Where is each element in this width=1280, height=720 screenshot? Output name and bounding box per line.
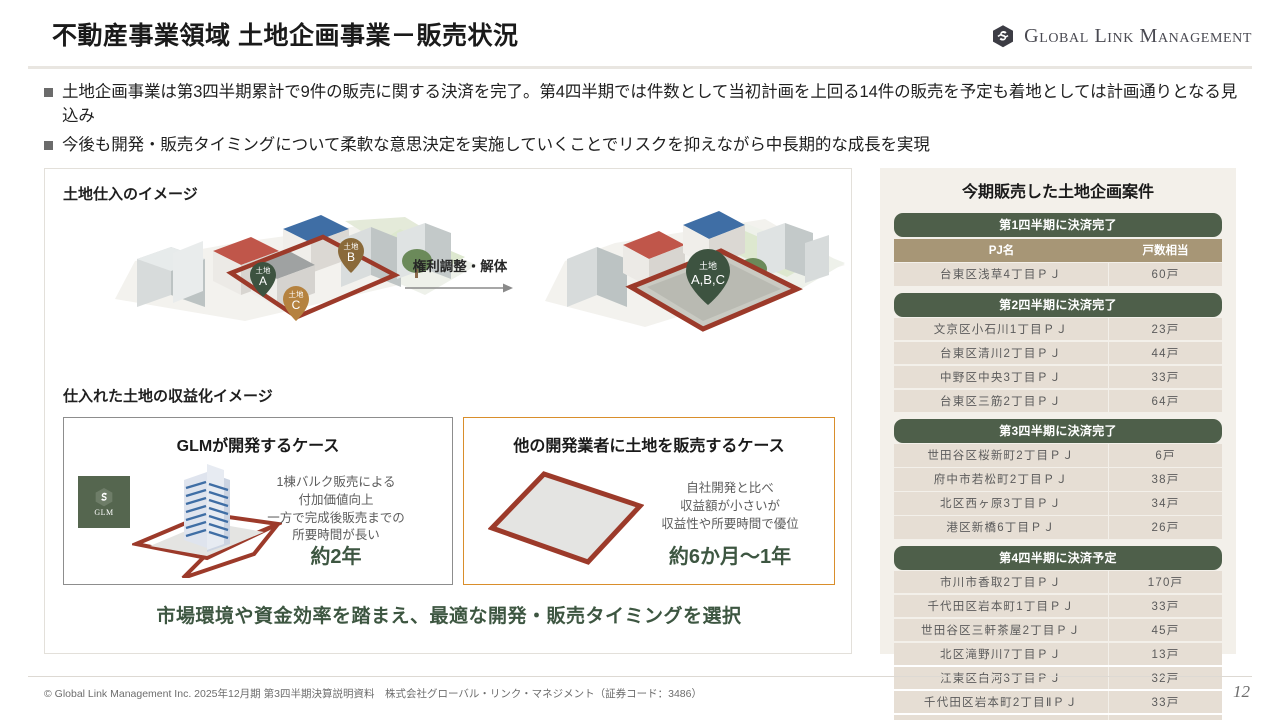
panel-title: 今期販売した土地企画案件: [880, 178, 1236, 202]
column-header-cell: 戸数相当: [1109, 239, 1222, 262]
project-name-cell: 北区西ヶ原3丁目ＰＪ: [894, 492, 1109, 515]
projects-table: 第1四半期に決済完了PJ名戸数相当台東区浅草4丁目ＰＪ60戸第2四半期に決済完了…: [894, 206, 1222, 720]
page-title: 不動産事業領域 土地企画事業－販売状況: [52, 16, 518, 52]
unit-count-cell: 23戸: [1109, 318, 1222, 341]
project-name-cell: 世田谷区桜新町2丁目ＰＪ: [894, 444, 1109, 467]
unit-count-cell: 18戸: [1109, 715, 1222, 720]
table-row: 北区西ヶ原3丁目ＰＪ34戸: [894, 492, 1222, 515]
table-row: 世田谷区東玉川2丁目ＰＪ18戸: [894, 715, 1222, 720]
case-description-line: 自社開発と比べ: [632, 480, 828, 498]
case-description: 1棟バルク販売による付加価値向上一方で完成後販売までの所要時間が長い: [224, 474, 448, 545]
table-row: 千代田区岩本町2丁目ⅡＰＪ33戸: [894, 691, 1222, 714]
project-name-cell: 文京区小石川1丁目ＰＪ: [894, 318, 1109, 341]
svg-text:土地: 土地: [699, 260, 717, 271]
unit-count-cell: 6戸: [1109, 444, 1222, 467]
unit-count-cell: 38戸: [1109, 468, 1222, 491]
unit-count-cell: 33戸: [1109, 691, 1222, 714]
glm-badge-label: GLM: [94, 508, 113, 517]
case-term: 約6か月〜1年: [624, 540, 836, 569]
slide: 不動産事業領域 土地企画事業－販売状況 Global Link Manageme…: [0, 0, 1280, 720]
svg-text:A,B,C: A,B,C: [691, 272, 725, 287]
bullet-list: 土地企画事業は第3四半期累計で9件の販売に関する決済を完了。第4四半期では件数と…: [44, 80, 1244, 161]
case-description: 自社開発と比べ収益額が小さいが収益性や所要時間で優位: [632, 480, 828, 533]
section-label-land-acquisition: 土地仕入のイメージ: [63, 183, 198, 204]
project-name-cell: 台東区浅草4丁目ＰＪ: [894, 263, 1109, 286]
table-row: 文京区小石川1丁目ＰＪ23戸: [894, 318, 1222, 341]
table-row: 台東区清川2丁目ＰＪ44戸: [894, 342, 1222, 365]
project-name-cell: 台東区清川2丁目ＰＪ: [894, 342, 1109, 365]
transform-arrow-label: 権利調整・解体: [400, 255, 520, 275]
unit-count-cell: 26戸: [1109, 516, 1222, 539]
table-column-header: PJ名戸数相当: [894, 239, 1222, 262]
unit-count-cell: 64戸: [1109, 390, 1222, 413]
table-row: 市川市香取2丁目ＰＪ170戸: [894, 571, 1222, 594]
table-row: 千代田区岩本町1丁目ＰＪ33戸: [894, 595, 1222, 618]
case-description-line: 収益性や所要時間で優位: [632, 516, 828, 534]
logo-wordmark: Global Link Management: [1024, 25, 1252, 48]
table-row: 港区新橋6丁目ＰＪ26戸: [894, 516, 1222, 539]
project-name-cell: 江東区白河3丁目ＰＪ: [894, 667, 1109, 690]
table-row: 府中市若松町2丁目ＰＪ38戸: [894, 468, 1222, 491]
case-description-line: 収益額が小さいが: [632, 498, 828, 516]
project-name-cell: 北区滝野川7丁目ＰＪ: [894, 643, 1109, 666]
case-card-glm-development: GLMが開発するケース GLM: [63, 417, 453, 585]
unit-count-cell: 60戸: [1109, 263, 1222, 286]
unit-count-cell: 32戸: [1109, 667, 1222, 690]
table-row: 北区滝野川7丁目ＰＪ13戸: [894, 643, 1222, 666]
project-name-cell: 市川市香取2丁目ＰＪ: [894, 571, 1109, 594]
bullet-square-icon: [44, 141, 53, 150]
empty-land-illustration: [488, 466, 644, 570]
project-name-cell: 港区新橋6丁目ＰＪ: [894, 516, 1109, 539]
table-row: 世田谷区桜新町2丁目ＰＪ6戸: [894, 444, 1222, 467]
footer-divider: [28, 676, 1252, 677]
page-number: 12: [1233, 682, 1250, 702]
glm-badge-icon: GLM: [78, 476, 130, 528]
quarter-section-header: 第2四半期に決済完了: [894, 293, 1222, 317]
table-row: 台東区浅草4丁目ＰＪ60戸: [894, 263, 1222, 286]
bullet-item: 土地企画事業は第3四半期累計で9件の販売に関する決済を完了。第4四半期では件数と…: [44, 80, 1244, 129]
sold-projects-panel: 今期販売した土地企画案件 第1四半期に決済完了PJ名戸数相当台東区浅草4丁目ＰＪ…: [880, 168, 1236, 654]
case-description-line: 1棟バルク販売による: [224, 474, 448, 492]
bullet-text: 今後も開発・販売タイミングについて柔軟な意思決定を実施していくことでリスクを抑え…: [62, 133, 930, 157]
table-rows: 台東区浅草4丁目ＰＪ60戸: [894, 263, 1222, 286]
left-content-panel: 土地仕入のイメージ: [44, 168, 852, 654]
project-name-cell: 台東区三筋2丁目ＰＪ: [894, 390, 1109, 413]
unit-count-cell: 34戸: [1109, 492, 1222, 515]
table-rows: 世田谷区桜新町2丁目ＰＪ6戸府中市若松町2丁目ＰＪ38戸北区西ヶ原3丁目ＰＪ34…: [894, 444, 1222, 539]
slide-header: 不動産事業領域 土地企画事業－販売状況 Global Link Manageme…: [0, 0, 1280, 68]
right-arrow-icon: [405, 281, 513, 293]
table-row: 中野区中央3丁目ＰＪ33戸: [894, 366, 1222, 389]
unit-count-cell: 45戸: [1109, 619, 1222, 642]
svg-text:C: C: [292, 298, 301, 312]
case-description-line: 付加価値向上: [224, 492, 448, 510]
bullet-square-icon: [44, 88, 53, 97]
case-card-land-sale: 他の開発業者に土地を販売するケース 自社開発と比べ収益額が小さいが収益性や所要時…: [463, 417, 835, 585]
case-title: 他の開発業者に土地を販売するケース: [464, 432, 834, 456]
glm-hexagon-s-monogram-icon: [991, 24, 1015, 48]
column-header-cell: PJ名: [894, 239, 1109, 262]
quarter-section-header: 第3四半期に決済完了: [894, 419, 1222, 443]
quarter-section-header: 第1四半期に決済完了: [894, 213, 1222, 237]
company-logo: Global Link Management: [991, 24, 1252, 48]
table-row: 世田谷区三軒茶屋2丁目ＰＪ45戸: [894, 619, 1222, 642]
unit-count-cell: 13戸: [1109, 643, 1222, 666]
project-name-cell: 中野区中央3丁目ＰＪ: [894, 366, 1109, 389]
case-title: GLMが開発するケース: [64, 432, 452, 456]
table-rows: 市川市香取2丁目ＰＪ170戸千代田区岩本町1丁目ＰＪ33戸世田谷区三軒茶屋2丁目…: [894, 571, 1222, 720]
unit-count-cell: 33戸: [1109, 595, 1222, 618]
unit-count-cell: 33戸: [1109, 366, 1222, 389]
svg-text:A: A: [259, 274, 267, 288]
case-description-line: 一方で完成後販売までの: [224, 510, 448, 528]
quarter-section-header: 第4四半期に決済予定: [894, 546, 1222, 570]
unit-count-cell: 44戸: [1109, 342, 1222, 365]
case-term: 約2年: [224, 540, 448, 569]
section-label-monetization: 仕入れた土地の収益化イメージ: [63, 385, 273, 406]
project-name-cell: 千代田区岩本町1丁目ＰＪ: [894, 595, 1109, 618]
project-name-cell: 千代田区岩本町2丁目ⅡＰＪ: [894, 691, 1109, 714]
footer-copyright: © Global Link Management Inc. 2025年12月期 …: [44, 686, 702, 701]
project-name-cell: 世田谷区東玉川2丁目ＰＪ: [894, 715, 1109, 720]
table-row: 台東区三筋2丁目ＰＪ64戸: [894, 390, 1222, 413]
table-rows: 文京区小石川1丁目ＰＪ23戸台東区清川2丁目ＰＪ44戸中野区中央3丁目ＰＪ33戸…: [894, 318, 1222, 413]
conclusion-text: 市場環境や資金効率を踏まえ、最適な開発・販売タイミングを選択: [45, 601, 853, 628]
bullet-item: 今後も開発・販売タイミングについて柔軟な意思決定を実施していくことでリスクを抑え…: [44, 133, 1244, 157]
bullet-text: 土地企画事業は第3四半期累計で9件の販売に関する決済を完了。第4四半期では件数と…: [62, 80, 1244, 129]
unit-count-cell: 170戸: [1109, 571, 1222, 594]
project-name-cell: 府中市若松町2丁目ＰＪ: [894, 468, 1109, 491]
project-name-cell: 世田谷区三軒茶屋2丁目ＰＪ: [894, 619, 1109, 642]
illustration-after: 土地 A,B,C: [545, 211, 845, 329]
svg-text:B: B: [347, 250, 355, 264]
header-divider: [28, 66, 1252, 69]
table-row: 江東区白河3丁目ＰＪ32戸: [894, 667, 1222, 690]
